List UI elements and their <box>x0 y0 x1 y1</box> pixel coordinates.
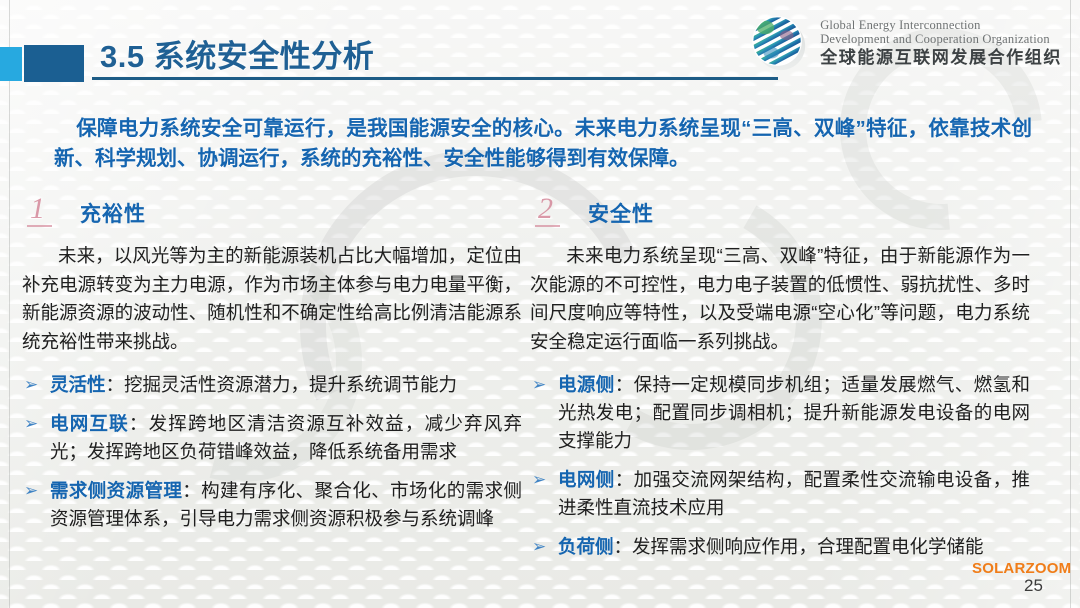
section-number: 1 <box>30 194 45 224</box>
bullet-text: ：保持一定规模同步机组；适量发展燃气、燃氢和光热发电；配置同步调相机；提升新能源… <box>558 374 1030 451</box>
bullet-list: ➢电源侧：保持一定规模同步机组；适量发展燃气、燃氢和光热发电；配置同步调相机；提… <box>530 371 1030 562</box>
column-adequacy: 1 充裕性 未来，以风光等为主的新能源装机占比大幅增加，定位由补充电源转变为主力… <box>22 198 522 544</box>
section-paragraph-text: 未来电力系统呈现“三高、双峰”特征，由于新能源作为一次能源的不可控性，电力电子装… <box>530 245 1030 352</box>
arrow-bullet-icon: ➢ <box>532 534 546 560</box>
arrow-bullet-icon: ➢ <box>24 411 38 437</box>
list-item: ➢负荷侧：发挥需求侧响应作用，合理配置电化学储能 <box>530 533 1030 561</box>
bullet-label: 需求侧资源管理 <box>50 480 182 501</box>
section-header: 2 安全性 <box>530 198 1030 238</box>
list-item: ➢电源侧：保持一定规模同步机组；适量发展燃气、燃氢和光热发电；配置同步调相机；提… <box>530 371 1030 455</box>
list-item: ➢灵活性：挖掘灵活性资源潜力，提升系统调节能力 <box>22 371 522 399</box>
bullet-label: 电网互联 <box>50 413 129 434</box>
logo-en-line1: Global Energy Interconnection <box>820 18 1062 32</box>
organization-logo: Global Energy Interconnection Developmen… <box>748 12 1062 74</box>
gei-globe-logo-icon <box>748 12 810 74</box>
section-paragraph: 未来，以风光等为主的新能源装机占比大幅增加，定位由补充电源转变为主力电源，作为市… <box>22 242 522 357</box>
header-accent-square-blue <box>24 45 84 82</box>
column-security: 2 安全性 未来电力系统呈现“三高、双峰”特征，由于新能源作为一次能源的不可控性… <box>530 198 1030 572</box>
presentation-slide: 3.5 系统安全性分析 <box>0 0 1080 608</box>
logo-cn-name: 全球能源互联网发展合作组织 <box>820 48 1062 67</box>
bullet-label: 电网侧 <box>558 469 615 490</box>
bullet-list: ➢灵活性：挖掘灵活性资源潜力，提升系统调节能力 ➢电网互联：发挥跨地区清洁资源互… <box>22 371 522 534</box>
arrow-bullet-icon: ➢ <box>532 467 546 493</box>
bullet-label: 灵活性 <box>50 374 106 395</box>
list-item: ➢需求侧资源管理：构建有序化、聚合化、市场化的需求侧资源管理体系，引导电力需求侧… <box>22 477 522 533</box>
lead-text: 保障电力系统安全可靠运行，是我国能源安全的核心。未来电力系统呈现“三高、双峰”特… <box>54 117 1032 170</box>
slide-header: 3.5 系统安全性分析 <box>0 0 1080 96</box>
section-paragraph: 未来电力系统呈现“三高、双峰”特征，由于新能源作为一次能源的不可控性，电力电子装… <box>530 242 1030 357</box>
logo-text-block: Global Energy Interconnection Developmen… <box>820 18 1062 67</box>
lead-paragraph: 保障电力系统安全可靠运行，是我国能源安全的核心。未来电力系统呈现“三高、双峰”特… <box>54 114 1032 173</box>
page-number: 25 <box>1024 576 1043 596</box>
section-title: 充裕性 <box>80 198 146 228</box>
list-item: ➢电网互联：发挥跨地区清洁资源互补效益，减少弃风弃光；发挥跨地区负荷错峰效益，降… <box>22 410 522 466</box>
bullet-label: 负荷侧 <box>558 536 614 557</box>
arrow-bullet-icon: ➢ <box>532 372 546 398</box>
section-paragraph-text: 未来，以风光等为主的新能源装机占比大幅增加，定位由补充电源转变为主力电源，作为市… <box>22 245 522 352</box>
arrow-bullet-icon: ➢ <box>24 478 38 504</box>
bullet-text: ：加强交流网架结构，配置柔性交流输电设备，推进柔性直流技术应用 <box>558 469 1030 518</box>
logo-en-line2: Development and Cooperation Organization <box>820 32 1062 46</box>
title-underline <box>92 77 778 80</box>
header-accent-square-cyan <box>0 47 22 81</box>
list-item: ➢电网侧：加强交流网架结构，配置柔性交流输电设备，推进柔性直流技术应用 <box>530 466 1030 522</box>
arrow-bullet-icon: ➢ <box>24 372 38 398</box>
section-header: 1 充裕性 <box>22 198 522 238</box>
bullet-text: ：挖掘灵活性资源潜力，提升系统调节能力 <box>106 374 458 395</box>
bullet-label: 电源侧 <box>558 374 615 395</box>
page-title: 3.5 系统安全性分析 <box>100 31 374 76</box>
section-number: 2 <box>538 194 553 224</box>
bullet-text: ：发挥需求侧响应作用，合理配置电化学储能 <box>614 536 984 557</box>
section-title: 安全性 <box>588 198 654 228</box>
